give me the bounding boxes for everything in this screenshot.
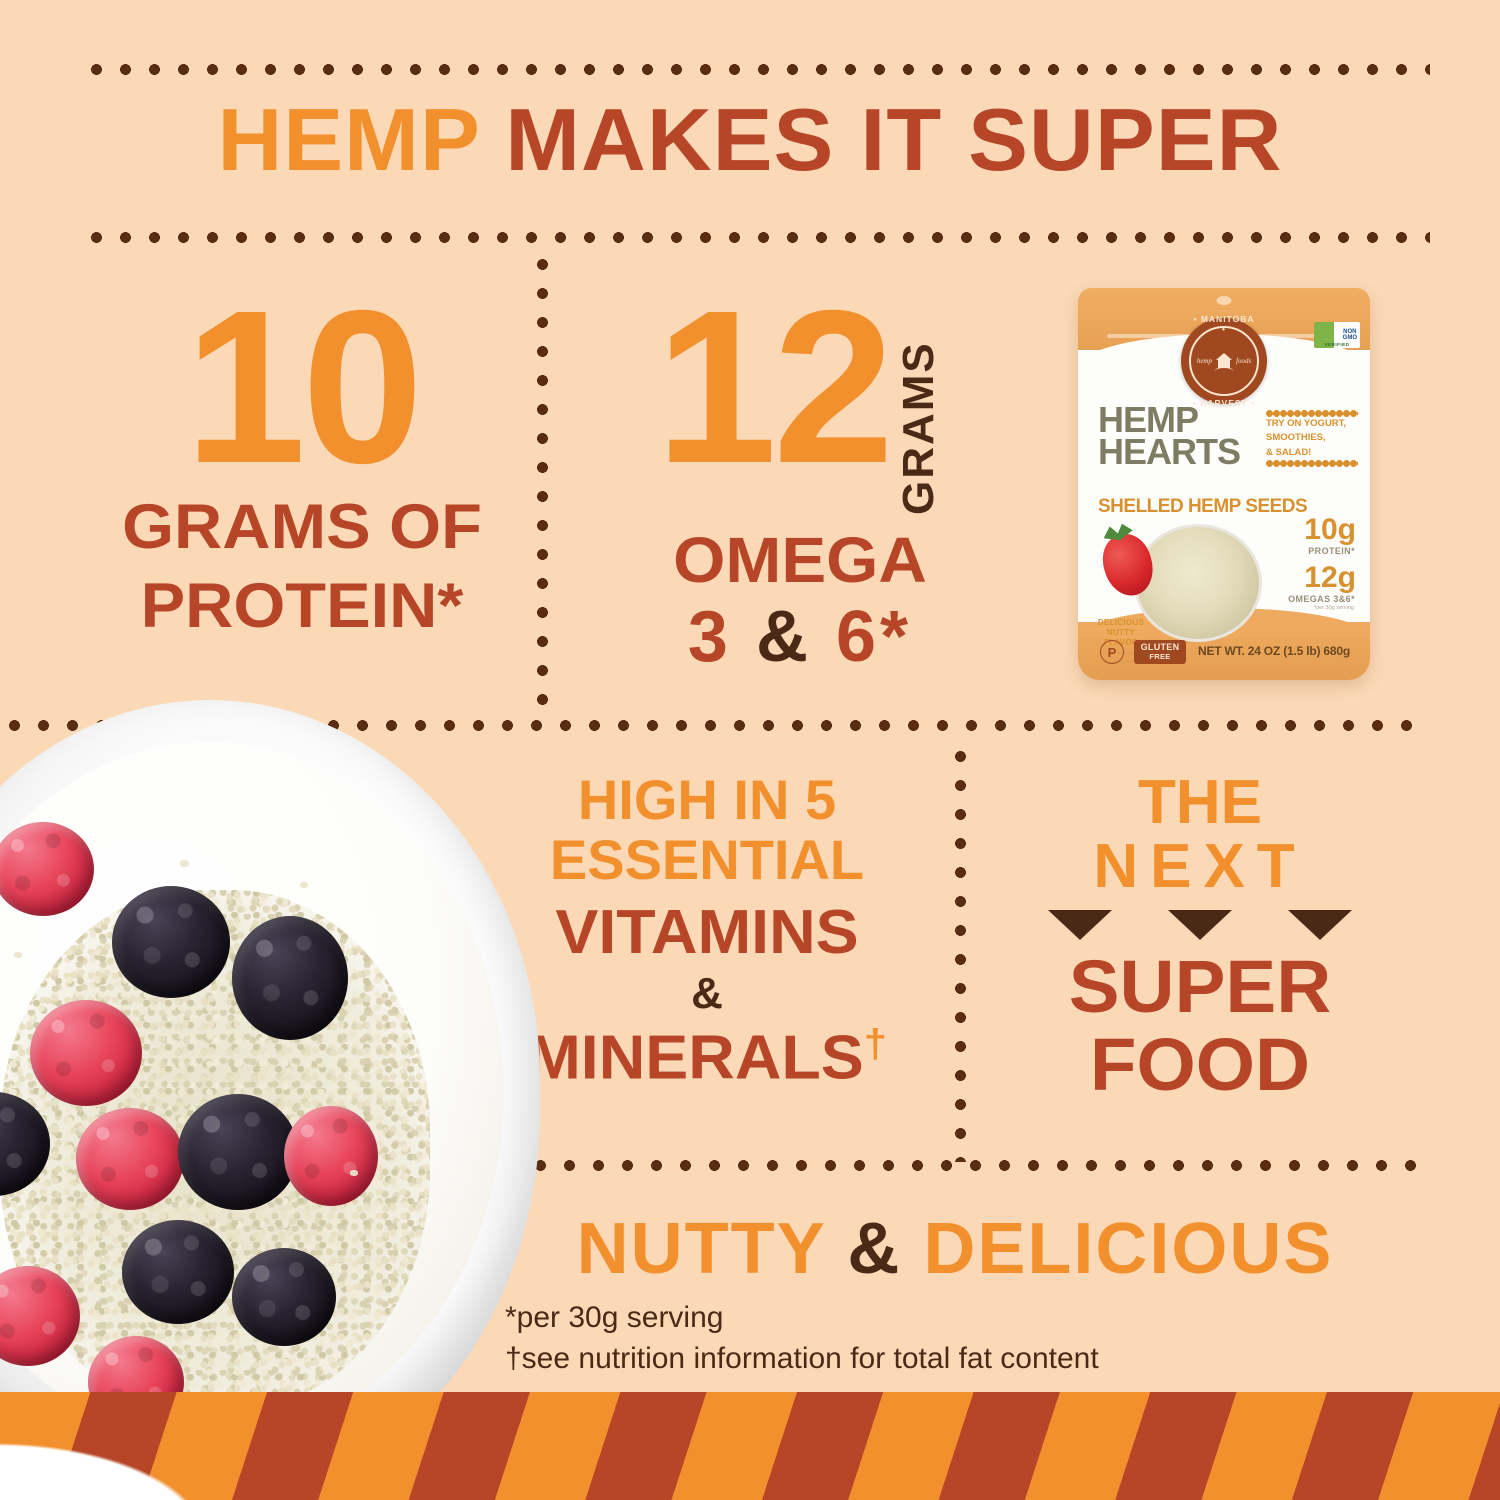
- yogurt-bowl-photo: [0, 700, 560, 1500]
- triangle-down-icon: [1288, 910, 1352, 940]
- omega-numbers-row: 3 & 6*: [590, 601, 1010, 673]
- omega-label: OMEGA: [580, 523, 1021, 597]
- usage-line2: SMOOTHIES,: [1266, 431, 1358, 445]
- gmo-line3: VERIFIED: [1314, 343, 1360, 348]
- protein-number: 10: [72, 296, 532, 479]
- raspberry: [30, 1000, 142, 1106]
- protein-label-line1: GRAMS OF: [58, 497, 546, 558]
- footnote-line2: †see nutrition information for total fat…: [505, 1338, 1099, 1379]
- tagline-part1: NUTTY: [577, 1209, 848, 1289]
- logo-word-hemp: hemp: [1197, 357, 1212, 365]
- omega-grams-vertical: GRAMS: [894, 310, 944, 515]
- omega-number: 12: [656, 296, 890, 479]
- raspberry: [284, 1106, 378, 1206]
- usage-dotted-rule-bottom: [1266, 460, 1358, 467]
- triangle-down-icon: [1168, 910, 1232, 940]
- minerals-text: MINERALS: [527, 1024, 864, 1093]
- paleo-badge-icon: P: [1100, 640, 1124, 664]
- non-gmo-verified-badge-icon: NON GMO VERIFIED: [1314, 322, 1360, 348]
- footnote-line1: *per 30g serving: [505, 1297, 1099, 1338]
- stat-block-omega: 12 GRAMS OMEGA 3 & 6*: [590, 296, 1010, 673]
- divider-vertical-lower: [955, 742, 966, 1162]
- package-subtitle: SHELLED HEMP SEEDS: [1098, 496, 1307, 518]
- tagline-ampersand: &: [847, 1209, 901, 1289]
- bottom-stripe-band: [0, 1392, 1500, 1500]
- dagger-symbol: †: [864, 1022, 887, 1066]
- product-package[interactable]: • MANITOBA • hemp foods • HARVEST • NON …: [1078, 288, 1370, 680]
- blackberry: [178, 1094, 298, 1210]
- package-body: • MANITOBA • hemp foods • HARVEST • NON …: [1078, 288, 1370, 680]
- footnotes: *per 30g serving †see nutrition informat…: [505, 1297, 1099, 1380]
- blackberry: [112, 886, 230, 998]
- stripe-bowl-cutout: [0, 1392, 390, 1500]
- tagline-part2: DELICIOUS: [901, 1209, 1333, 1289]
- package-protein-value: 10g: [1304, 516, 1356, 543]
- headline-rest: MAKES IT SUPER: [479, 90, 1282, 189]
- manitoba-harvest-logo-icon: • MANITOBA • hemp foods • HARVEST •: [1181, 318, 1267, 404]
- headline-word-hemp: HEMP: [217, 90, 479, 189]
- divider-above-tagline: [468, 1160, 1430, 1171]
- package-net-weight: NET WT. 24 OZ (1.5 lb) 680g: [1198, 644, 1350, 658]
- superfood-line4: FOOD: [968, 1028, 1432, 1102]
- logo-word-foods: foods: [1236, 357, 1251, 365]
- hemp-seed: [14, 952, 22, 958]
- package-protein-label: PROTEIN*: [1308, 546, 1355, 556]
- gluten-free-badge-icon: GLUTEN FREE: [1134, 640, 1186, 664]
- barn-icon: [1214, 351, 1234, 371]
- stat-block-protein: 10 GRAMS OF PROTEIN*: [72, 296, 532, 637]
- omega-6: 6*: [836, 597, 912, 677]
- package-title: HEMP HEARTS: [1098, 404, 1240, 467]
- package-omega-footnote: *per 30g serving: [1314, 605, 1354, 611]
- usage-dotted-rule-top: [1266, 410, 1358, 417]
- hemp-seed: [350, 1170, 358, 1176]
- page-title: HEMP MAKES IT SUPER: [0, 96, 1500, 184]
- superfood-line1: THE: [975, 772, 1425, 834]
- package-usage-callout: TRY ON YOGURT, SMOOTHIES, & SALAD!: [1266, 410, 1358, 467]
- logo-arc-top-text: • MANITOBA •: [1191, 314, 1257, 334]
- omega-3: 3: [688, 597, 732, 677]
- blackberry: [232, 1248, 336, 1346]
- flavor-line2: NUTTY: [1092, 628, 1150, 638]
- usage-line3: & SALAD!: [1266, 446, 1358, 460]
- protein-label-line2: PROTEIN*: [58, 576, 546, 637]
- usage-line1: TRY ON YOGURT,: [1266, 417, 1358, 431]
- package-seed-bowl-image: [1134, 524, 1262, 642]
- arrow-row: [975, 910, 1425, 940]
- superfood-line3: SUPER: [968, 950, 1432, 1024]
- gmo-line2: GMO: [1343, 335, 1357, 341]
- divider-vertical-upper: [537, 250, 548, 720]
- divider-under-headline: [82, 232, 1430, 243]
- triangle-down-icon: [1048, 910, 1112, 940]
- hemp-seed: [348, 1030, 357, 1037]
- package-omega-value: 12g: [1304, 564, 1356, 591]
- infographic-canvas: HEMP MAKES IT SUPER 10 GRAMS OF PROTEIN*…: [0, 0, 1500, 1500]
- superfood-block: THE NEXT SUPER FOOD: [975, 772, 1425, 1102]
- hemp-seed: [180, 860, 189, 867]
- package-title-line2: HEARTS: [1098, 436, 1240, 468]
- superfood-line2: NEXT: [975, 836, 1425, 898]
- blackberry: [122, 1220, 234, 1324]
- package-hang-hole: [1217, 296, 1232, 305]
- divider-top: [82, 64, 1430, 75]
- tagline: NUTTY & DELICIOUS: [480, 1208, 1430, 1290]
- flavor-line1: DELICIOUS: [1092, 618, 1150, 628]
- hemp-seed: [300, 882, 308, 888]
- bowl-shape: [0, 700, 540, 1490]
- package-omega-label: OMEGAS 3&6*: [1288, 594, 1355, 604]
- blackberry: [232, 916, 348, 1040]
- omega-ampersand: &: [756, 597, 812, 677]
- raspberry: [76, 1108, 184, 1210]
- gluten-free-line2: FREE: [1149, 653, 1170, 661]
